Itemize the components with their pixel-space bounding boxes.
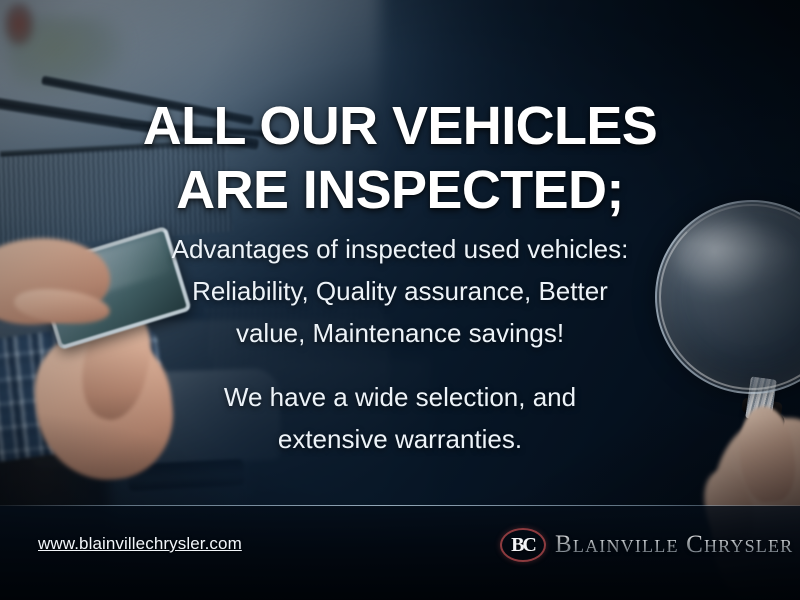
body-paragraph-1: Advantages of inspected used vehicles: R… (110, 228, 690, 354)
body-p1-line-1: Advantages of inspected used vehicles: (172, 234, 629, 264)
body-p2-line-2: extensive warranties. (278, 424, 522, 454)
body-p2-line-1: We have a wide selection, and (224, 382, 576, 412)
brand-monogram-icon: BC (500, 528, 546, 562)
headline-line-2: ARE INSPECTED; (0, 158, 800, 222)
body-paragraph-2: We have a wide selection, and extensive … (110, 376, 690, 460)
website-url-link[interactable]: www.blainvillechrysler.com (38, 534, 242, 554)
body-p1-line-3: value, Maintenance savings! (236, 318, 564, 348)
body-copy: Advantages of inspected used vehicles: R… (110, 228, 690, 460)
brand-name-text: Blainville Chrysler (555, 531, 793, 559)
body-p1-line-2: Reliability, Quality assurance, Better (192, 276, 608, 306)
monogram-letters: BC (500, 528, 546, 562)
headline-line-1: ALL OUR VEHICLES (0, 94, 800, 158)
advertisement-banner: ALL OUR VEHICLES ARE INSPECTED; Advantag… (0, 0, 800, 600)
headline: ALL OUR VEHICLES ARE INSPECTED; (0, 94, 800, 222)
paragraph-spacer (110, 354, 690, 376)
brand-logo[interactable]: BC Blainville Chrysler (500, 528, 793, 562)
